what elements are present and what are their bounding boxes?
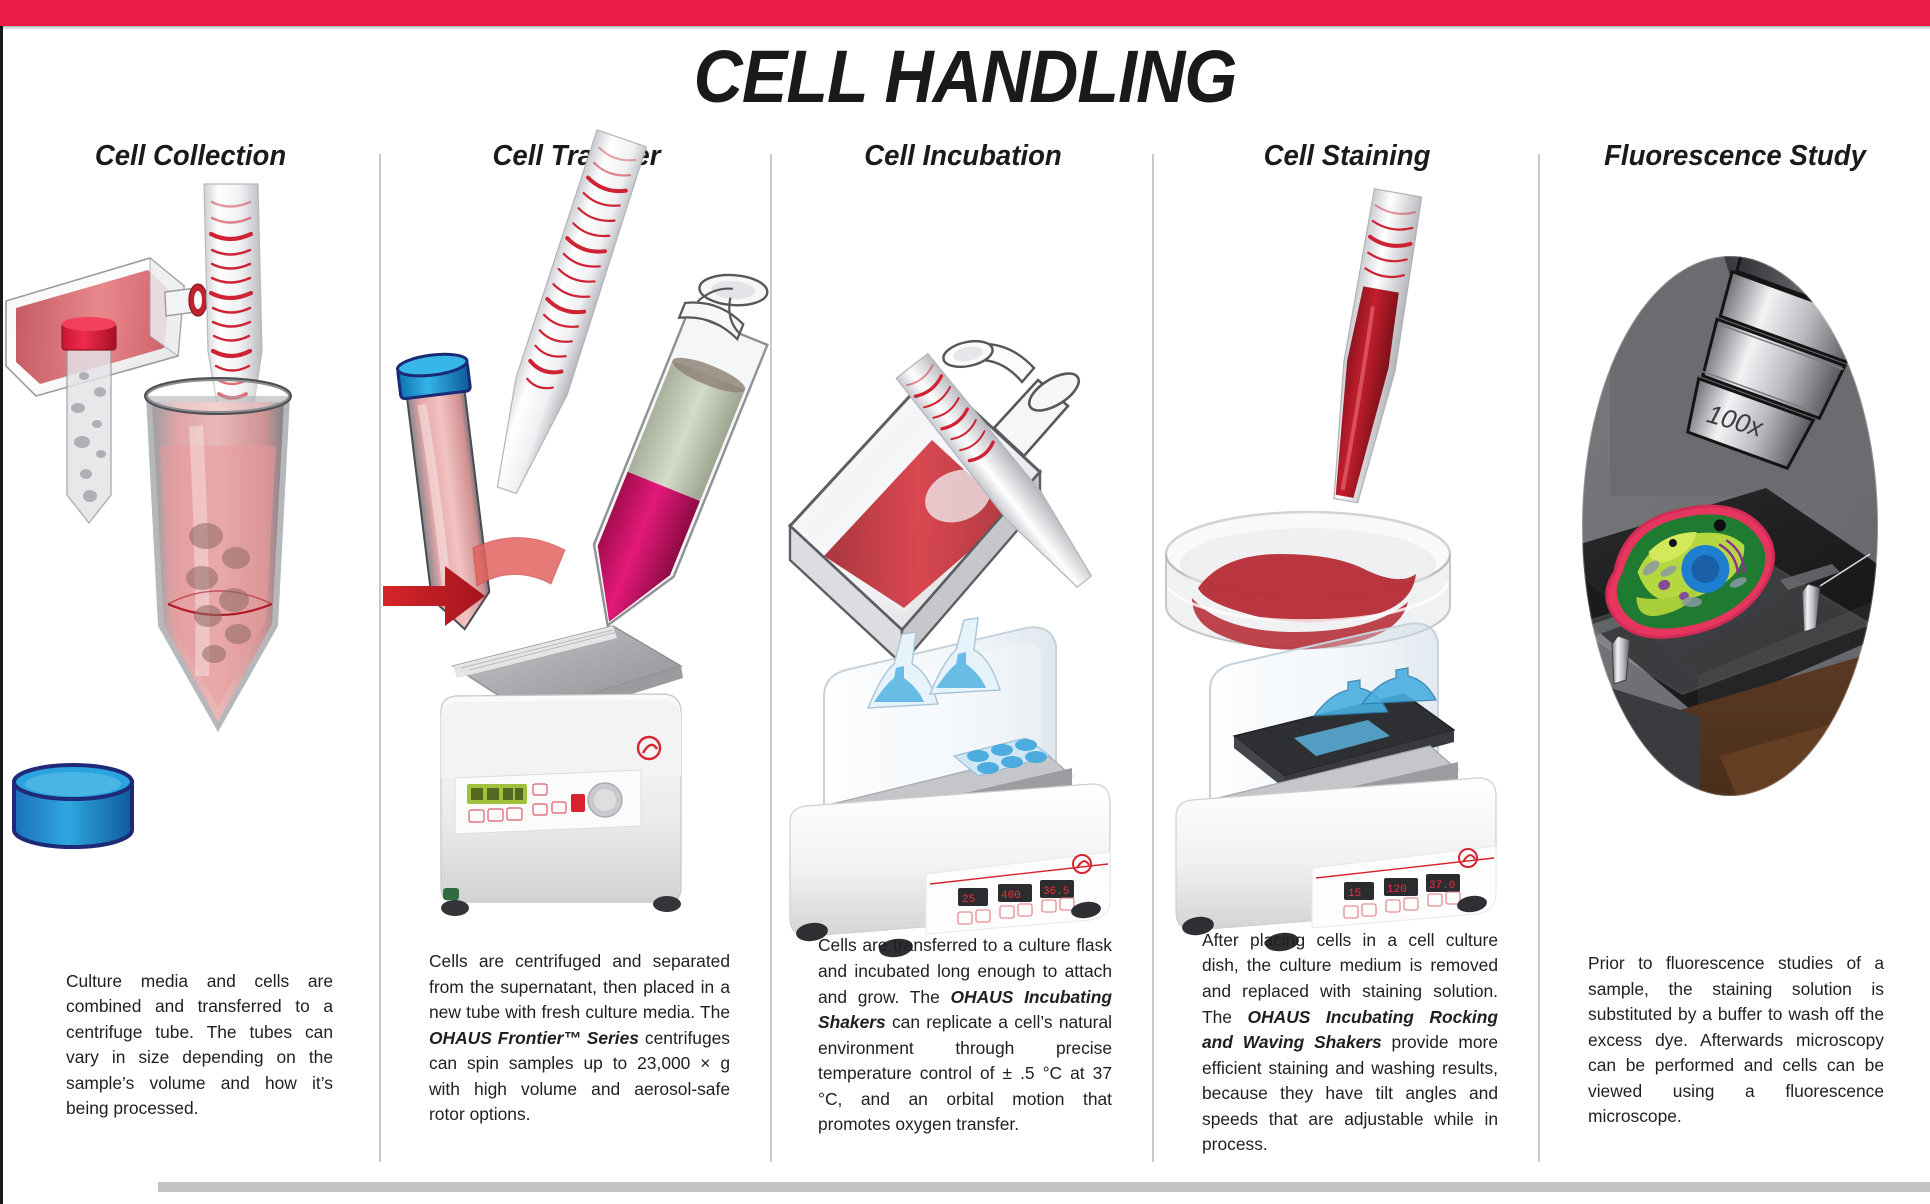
caption-fluorescence-study: Prior to fluorescence studies of a sampl… (1588, 951, 1884, 1130)
svg-text:120: 120 (1387, 884, 1407, 896)
cell-collection-illustration (0, 196, 381, 956)
caption-cell-collection: Culture media and cells are combined and… (66, 969, 333, 1122)
cell-incubation-illustration: 25 400 36.5 (772, 196, 1154, 956)
column-cell-collection: Cell Collection (0, 150, 381, 1180)
stop-button (571, 794, 585, 812)
bottom-gray-bar (158, 1182, 1930, 1192)
centrifuge-tube-red-cap (62, 317, 116, 523)
incubating-shaker: 25 400 36.5 (790, 618, 1110, 959)
serological-pipette (477, 130, 652, 499)
infographic-page: CELL HANDLING Cell Collection (0, 0, 1930, 1204)
column-title-cell-collection: Cell Collection (10, 140, 372, 172)
column-title-fluorescence-study: Fluorescence Study (1550, 140, 1921, 172)
column-cell-transfer: Cell Transfer (381, 150, 772, 1180)
svg-text:36.5: 36.5 (1043, 886, 1069, 898)
blue-petri-dish (14, 765, 132, 847)
conical-tube-with-cells (146, 379, 290, 732)
svg-text:400: 400 (1001, 890, 1021, 902)
serological-pipette-with-stain (1320, 189, 1425, 505)
fluorescence-study-illustration: 100x (1540, 196, 1930, 956)
benchtop-centrifuge (441, 626, 683, 916)
column-cell-staining: Cell Staining (1154, 150, 1540, 1180)
column-title-cell-staining: Cell Staining (1164, 140, 1531, 172)
caption-cell-incubation: Cells are transferred to a culture flask… (818, 933, 1112, 1138)
page-title: CELL HANDLING (77, 34, 1853, 119)
svg-text:15: 15 (1348, 888, 1361, 900)
column-title-cell-incubation: Cell Incubation (782, 140, 1145, 172)
caption-cell-transfer: Cells are centrifuged and separated from… (429, 949, 730, 1128)
banner-shadow (0, 26, 1930, 30)
cell-transfer-illustration (381, 196, 772, 956)
svg-text:25: 25 (962, 894, 975, 906)
columns-container: Cell Collection (0, 150, 1930, 1180)
caption-cell-staining: After placing cells in a cell culture di… (1202, 928, 1498, 1158)
column-cell-incubation: Cell Incubation (772, 150, 1154, 1180)
top-red-banner (0, 0, 1930, 26)
svg-text:37.0: 37.0 (1429, 880, 1455, 892)
column-title-cell-transfer: Cell Transfer (391, 140, 762, 172)
cell-staining-illustration: 15 120 37.0 (1154, 196, 1540, 956)
incubating-rocking-shaker: 15 120 37.0 (1176, 623, 1496, 953)
column-fluorescence-study: Fluorescence Study (1540, 150, 1930, 1180)
conical-tube-with-media (562, 252, 791, 641)
